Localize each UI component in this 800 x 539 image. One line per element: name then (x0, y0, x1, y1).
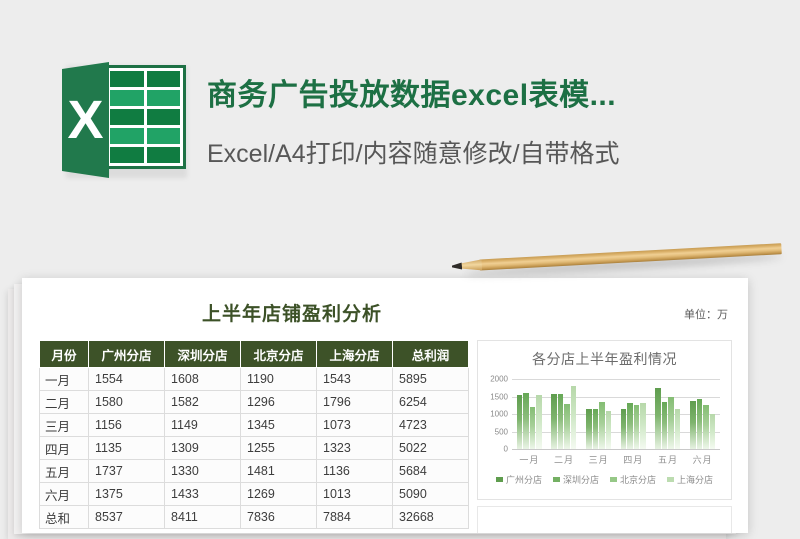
logo-grid (104, 65, 186, 169)
table-row: 四月11351309125513235022 (40, 437, 469, 460)
table-cell-value: 8411 (165, 506, 241, 529)
chart-bar (675, 409, 681, 449)
table-cell-value: 1269 (241, 483, 317, 506)
table-cell-value: 1330 (165, 460, 241, 483)
chart-bar (703, 405, 709, 449)
chart-bar (668, 397, 674, 449)
chart-bar (640, 403, 646, 449)
table-row: 三月11561149134510734723 (40, 414, 469, 437)
chart-bar (551, 394, 557, 449)
table-cell-value: 1375 (89, 483, 165, 506)
chart-bar (697, 399, 703, 449)
chart-panel: 各分店上半年盈利情况 2000150010005000 一月二月三月四月五月六月… (477, 340, 732, 500)
table-cell-value: 1135 (89, 437, 165, 460)
chart-bar (517, 395, 523, 449)
table-cell-month: 一月 (40, 368, 89, 391)
legend-label: 深圳分店 (563, 473, 599, 486)
chart-y-tick-label: 1000 (490, 410, 508, 419)
chart-bar (593, 409, 599, 449)
table-cell-value: 5022 (393, 437, 469, 460)
table-cell-value: 1554 (89, 368, 165, 391)
chart-bar (536, 395, 542, 449)
table-cell-value: 1255 (241, 437, 317, 460)
table-cell-month: 二月 (40, 391, 89, 414)
chart-y-tick-label: 0 (504, 445, 508, 454)
chart-bar (690, 401, 696, 449)
table-header-row: 月份广州分店深圳分店北京分店上海分店总利润 (40, 341, 469, 368)
table-cell-value: 8537 (89, 506, 165, 529)
table-cell-value: 1136 (317, 460, 393, 483)
chart-x-tick-label: 五月 (658, 453, 678, 466)
gridline: 0 (512, 449, 720, 450)
chart-bar (627, 403, 633, 449)
table-cell-value: 6254 (393, 391, 469, 414)
table-row: 总和853784117836788432668 (40, 506, 469, 529)
table-cell-value: 1309 (165, 437, 241, 460)
legend-swatch-icon (610, 477, 617, 482)
table-row: 二月15801582129617966254 (40, 391, 469, 414)
table-cell-month: 五月 (40, 460, 89, 483)
legend-swatch-icon (667, 477, 674, 482)
table-cell-value: 1582 (165, 391, 241, 414)
table-column-header: 月份 (40, 341, 89, 368)
table-cell-month: 三月 (40, 414, 89, 437)
table-cell-value: 1323 (317, 437, 393, 460)
legend-label: 广州分店 (506, 473, 542, 486)
chart-y-tick-label: 1500 (490, 392, 508, 401)
chart-bar-group (655, 379, 680, 449)
table-cell-value: 1190 (241, 368, 317, 391)
chart-bar (564, 404, 570, 449)
table-cell-value: 1433 (165, 483, 241, 506)
chart-bar (558, 394, 564, 449)
chart-bar-group (690, 379, 715, 449)
excel-logo-icon: X (62, 62, 187, 178)
table-cell-value: 32668 (393, 506, 469, 529)
chart-bar-group (621, 379, 646, 449)
chart-y-tick-label: 500 (495, 427, 508, 436)
table-cell-value: 1737 (89, 460, 165, 483)
chart-legend-item: 上海分店 (667, 473, 713, 486)
table-cell-value: 1073 (317, 414, 393, 437)
chart-y-tick-label: 2000 (490, 375, 508, 384)
chart-legend-item: 广州分店 (496, 473, 542, 486)
table-cell-value: 1608 (165, 368, 241, 391)
table-cell-month: 四月 (40, 437, 89, 460)
table-cell-value: 7884 (317, 506, 393, 529)
table-cell-month: 六月 (40, 483, 89, 506)
legend-label: 上海分店 (677, 473, 713, 486)
chart-bar (621, 409, 627, 449)
document-preview-stack: 上半年店铺盈利分析 单位：万 月份广州分店深圳分店北京分店上海分店总利润 一月1… (8, 278, 768, 538)
legend-swatch-icon (553, 477, 560, 482)
chart-x-tick-label: 一月 (519, 453, 539, 466)
table-row: 一月15541608119015435895 (40, 368, 469, 391)
legend-label: 北京分店 (620, 473, 656, 486)
table-column-header: 北京分店 (241, 341, 317, 368)
table-cell-value: 1013 (317, 483, 393, 506)
pencil-tip-icon (452, 262, 462, 270)
page-subtitle: Excel/A4打印/内容随意修改/自带格式 (207, 134, 797, 170)
table-cell-value: 1296 (241, 391, 317, 414)
chart-legend-item: 深圳分店 (553, 473, 599, 486)
chart-x-axis-labels: 一月二月三月四月五月六月 (512, 453, 720, 466)
chart-bar (571, 386, 577, 449)
chart-plot-area: 2000150010005000 (512, 379, 720, 449)
chart-x-tick-label: 六月 (693, 453, 713, 466)
chart-bar (662, 402, 668, 449)
chart-bars (512, 379, 720, 449)
page-title: 商务广告投放数据excel表模... (207, 70, 787, 114)
chart-bar-group (586, 379, 611, 449)
chart-bar (606, 411, 612, 449)
table-cell-value: 7836 (241, 506, 317, 529)
chart-legend: 广州分店深圳分店北京分店上海分店 (478, 473, 731, 486)
chart-x-tick-label: 二月 (554, 453, 574, 466)
chart-bar (586, 409, 592, 449)
sheet-unit-label: 单位：万 (684, 306, 728, 322)
chart-bar (523, 393, 529, 449)
table-column-header: 深圳分店 (165, 341, 241, 368)
chart-bar-group (517, 379, 542, 449)
promo-banner: X 商务广告投放数据excel表模... Excel/A4打印/内容随意修改/自… (0, 0, 800, 230)
spreadsheet-sheet: 上半年店铺盈利分析 单位：万 月份广州分店深圳分店北京分店上海分店总利润 一月1… (22, 278, 748, 533)
chart-legend-item: 北京分店 (610, 473, 656, 486)
chart-bar (655, 388, 661, 449)
chart-panel-secondary (477, 506, 732, 533)
chart-title: 各分店上半年盈利情况 (478, 349, 731, 369)
table-cell-value: 1580 (89, 391, 165, 414)
chart-x-tick-label: 四月 (623, 453, 643, 466)
chart-bar (530, 407, 536, 449)
table-column-header: 上海分店 (317, 341, 393, 368)
sheet-title: 上半年店铺盈利分析 (22, 299, 562, 326)
legend-swatch-icon (496, 477, 503, 482)
table-column-header: 广州分店 (89, 341, 165, 368)
table-row: 五月17371330148111365684 (40, 460, 469, 483)
pencil-image (452, 240, 782, 276)
table-cell-value: 1156 (89, 414, 165, 437)
table-cell-value: 5895 (393, 368, 469, 391)
table-cell-month: 总和 (40, 506, 89, 529)
chart-bar (599, 402, 605, 449)
profit-data-table: 月份广州分店深圳分店北京分店上海分店总利润 一月1554160811901543… (39, 340, 469, 529)
table-row: 六月13751433126910135090 (40, 483, 469, 506)
table-cell-value: 5090 (393, 483, 469, 506)
table-cell-value: 1149 (165, 414, 241, 437)
chart-bar-group (551, 379, 576, 449)
table-cell-value: 4723 (393, 414, 469, 437)
chart-x-tick-label: 三月 (589, 453, 609, 466)
table-cell-value: 1543 (317, 368, 393, 391)
chart-bar (710, 414, 716, 449)
table-cell-value: 1796 (317, 391, 393, 414)
table-cell-value: 5684 (393, 460, 469, 483)
table-cell-value: 1345 (241, 414, 317, 437)
chart-bar (634, 405, 640, 449)
logo-letter: X (62, 62, 109, 178)
table-column-header: 总利润 (393, 341, 469, 368)
table-cell-value: 1481 (241, 460, 317, 483)
